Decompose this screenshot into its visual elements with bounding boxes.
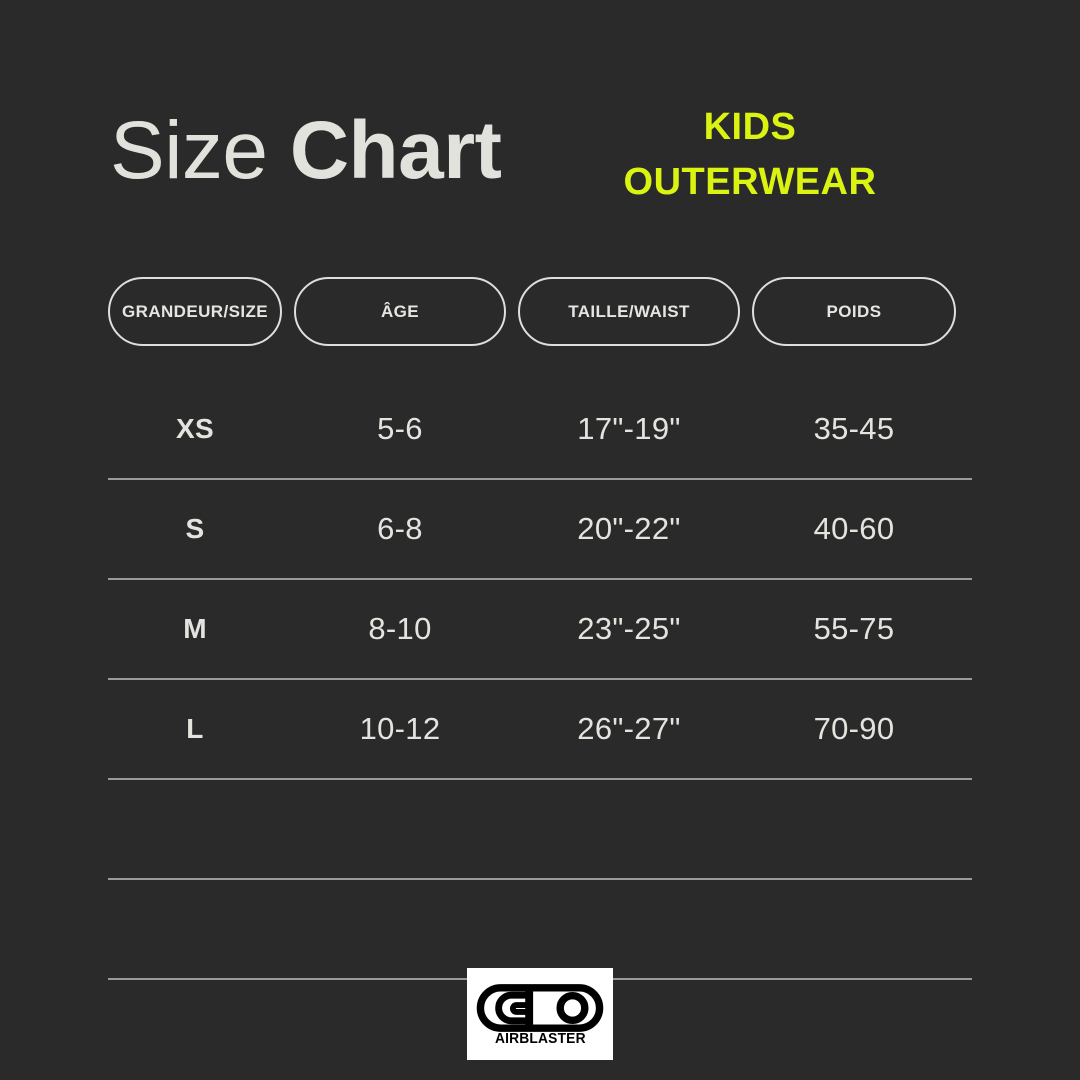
- cell-age: 5-6: [294, 411, 506, 447]
- cell-waist: 26"-27": [518, 711, 740, 747]
- page-title: Size Chart: [110, 96, 501, 206]
- page-header: Size Chart KIDS OUTERWEAR: [0, 96, 1080, 216]
- cell-waist: 17"-19": [518, 411, 740, 447]
- column-header-weight: POIDS: [752, 277, 956, 346]
- cell-size: M: [108, 613, 282, 645]
- column-header-waist: TAILLE/WAIST: [518, 277, 740, 346]
- table-body: XS 5-6 17"-19" 35-45 S 6-8 20"-22" 40-60…: [108, 380, 972, 980]
- page-title-bold: Chart: [290, 105, 502, 196]
- table-row: [108, 780, 972, 880]
- cell-age: 6-8: [294, 511, 506, 547]
- cell-waist: 23"-25": [518, 611, 740, 647]
- column-header-size: GRANDEUR/SIZE: [108, 277, 282, 346]
- cell-waist: 20"-22": [518, 511, 740, 547]
- column-header-age: ÂGE: [294, 277, 506, 346]
- category-label: KIDS OUTERWEAR: [600, 100, 900, 210]
- table-header-row: GRANDEUR/SIZE ÂGE TAILLE/WAIST POIDS: [108, 277, 972, 346]
- cell-age: 10-12: [294, 711, 506, 747]
- table-row: XS 5-6 17"-19" 35-45: [108, 380, 972, 480]
- cell-size: XS: [108, 413, 282, 445]
- page-title-light: Size: [110, 105, 268, 196]
- cell-weight: 70-90: [752, 711, 956, 747]
- category-line-2: OUTERWEAR: [600, 155, 900, 210]
- category-line-1: KIDS: [600, 100, 900, 155]
- table-row: L 10-12 26"-27" 70-90: [108, 680, 972, 780]
- cell-weight: 40-60: [752, 511, 956, 547]
- cell-size: L: [108, 713, 282, 745]
- table-row: M 8-10 23"-25" 55-75: [108, 580, 972, 680]
- logo-plate: AIRBLASTER: [467, 968, 613, 1060]
- size-table: GRANDEUR/SIZE ÂGE TAILLE/WAIST POIDS XS …: [108, 277, 972, 980]
- airblaster-mark-icon: [476, 983, 604, 1033]
- logo-wordmark: AIRBLASTER: [495, 1030, 586, 1048]
- brand-logo: AIRBLASTER: [0, 968, 1080, 1060]
- size-chart-page: Size Chart KIDS OUTERWEAR GRANDEUR/SIZE …: [0, 0, 1080, 1080]
- table-row: [108, 880, 972, 980]
- table-row: S 6-8 20"-22" 40-60: [108, 480, 972, 580]
- cell-age: 8-10: [294, 611, 506, 647]
- cell-weight: 35-45: [752, 411, 956, 447]
- cell-weight: 55-75: [752, 611, 956, 647]
- cell-size: S: [108, 513, 282, 545]
